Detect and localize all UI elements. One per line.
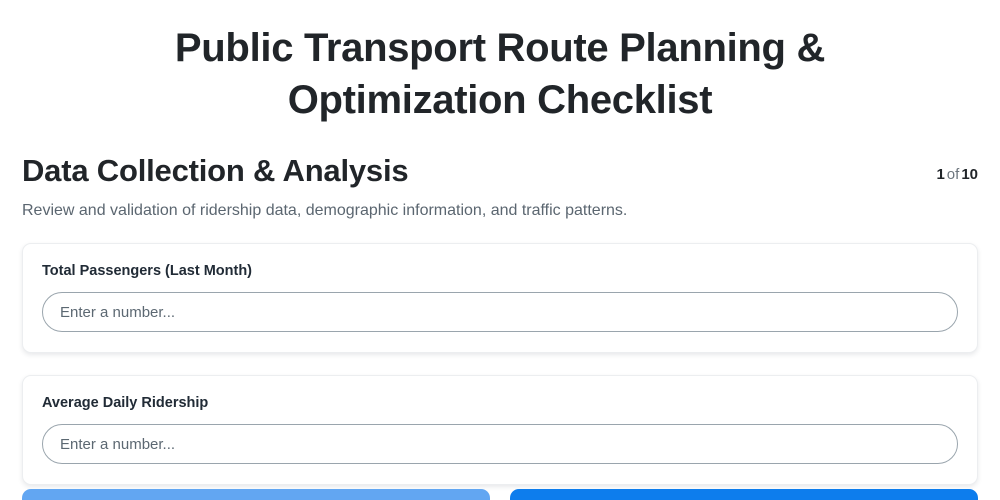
step-counter: 1of10 bbox=[936, 164, 978, 190]
page-title: Public Transport Route Planning & Optimi… bbox=[0, 0, 1000, 126]
previous-button[interactable]: Previous bbox=[22, 489, 490, 500]
section-title: Data Collection & Analysis bbox=[22, 152, 408, 190]
step-current: 1 bbox=[936, 166, 944, 183]
next-button[interactable]: Next bbox=[510, 489, 978, 500]
step-separator: of bbox=[945, 166, 962, 183]
step-total: 10 bbox=[961, 166, 978, 183]
section-description: Review and validation of ridership data,… bbox=[0, 190, 1000, 222]
field-card-total-passengers: Total Passengers (Last Month) bbox=[22, 243, 978, 353]
field-card-average-daily-ridership: Average Daily Ridership bbox=[22, 375, 978, 485]
navigation-bar: Previous Next bbox=[22, 489, 978, 500]
field-card-list: Total Passengers (Last Month) Average Da… bbox=[0, 222, 1000, 485]
field-label: Total Passengers (Last Month) bbox=[42, 261, 958, 281]
average-daily-ridership-input[interactable] bbox=[42, 424, 958, 464]
field-label: Average Daily Ridership bbox=[42, 393, 958, 413]
section-header: Data Collection & Analysis 1of10 bbox=[0, 126, 1000, 190]
checklist-page: Public Transport Route Planning & Optimi… bbox=[0, 0, 1000, 500]
total-passengers-input[interactable] bbox=[42, 292, 958, 332]
